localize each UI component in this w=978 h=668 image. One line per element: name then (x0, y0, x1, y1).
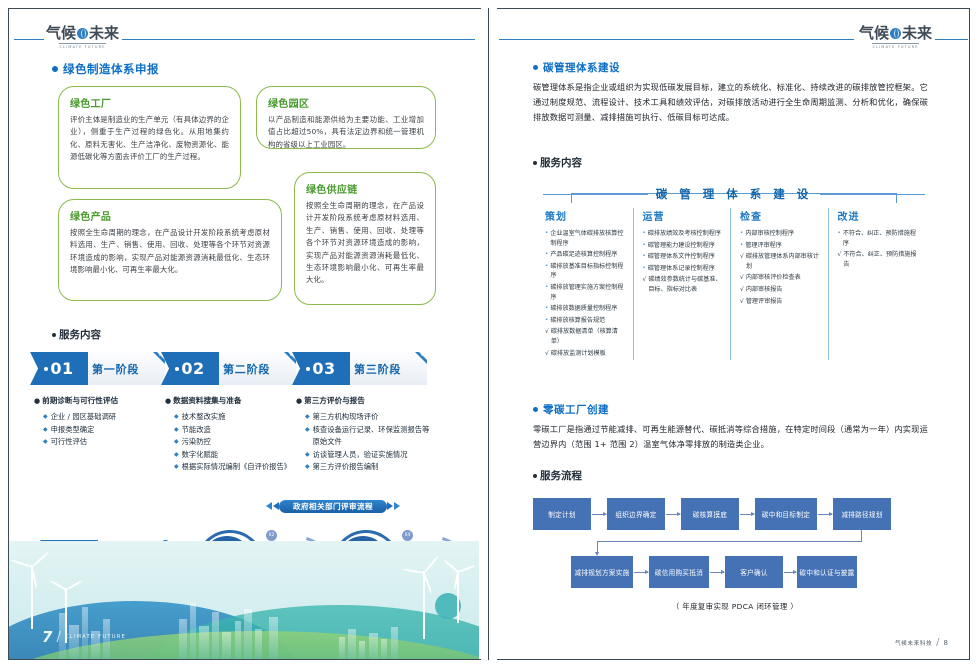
phase-items: ◆企业 / 园区基础调研 ◆申报类型确定 ◆可行性评估 (43, 411, 168, 449)
list-item: ◆可行性评估 (43, 436, 168, 449)
diamond-icon: ◆ (305, 424, 310, 437)
list-item: •碳排放管理实施方案控制程序 (545, 283, 626, 302)
lead-dot-icon: ● (296, 395, 302, 407)
footer-brand-text: CLIMATE FUTURE (65, 634, 126, 640)
list-item: ◆根据实际情况编制《自评价报告》 (174, 461, 299, 474)
phase-number: 03 (312, 359, 335, 378)
logo-text-right: 未来 (902, 25, 932, 42)
card-body: 按照全生命周期的理念，在产品设计开发阶段系统考虑原材料选用、生产、销售、使用、回… (306, 200, 424, 287)
right-page-footer: 气候未来科技 / 8 (895, 637, 948, 648)
list-item: •碳管理体系文件控制程序 (643, 252, 724, 262)
phase-lead-label: 前期诊断与可行性评估 (42, 395, 118, 407)
footer-slash: / (936, 637, 939, 648)
matrix-column-header: 检查 (740, 208, 821, 223)
wind-turbine-1-icon (17, 557, 47, 629)
list-item: √碳排放数据清单（核算清单） (545, 327, 626, 346)
logo-rule-right (935, 39, 968, 40)
flow-box-3[interactable]: 碳核算摸底 (681, 498, 739, 530)
list-item: ◆技术整改实施 (174, 411, 299, 424)
phase-number-tag: 01 (30, 352, 88, 385)
lead-dot-icon: ● (165, 395, 171, 407)
bullet-dot-icon (533, 161, 537, 165)
tag-dot-icon (175, 367, 179, 371)
phase-number-tag: 02 (161, 352, 219, 385)
matrix-items: •企业温室气体碳排放核算控制程序 •产品碳足迹核算控制程序 •碳排放基准目标指标… (545, 229, 626, 358)
flow-box-9[interactable]: 碳中和认证与披露 (797, 556, 857, 588)
flow-box-4[interactable]: 碳中和目标制定 (755, 498, 817, 530)
right-heading1-label: 碳管理体系建设 (543, 60, 620, 75)
logo-text-left: 气候 (46, 25, 76, 42)
carbon-management-matrix: 碳 管 理 体 系 建 设 策划 •企业温室气体碳排放核算控制程序 •产品碳足迹… (543, 186, 925, 341)
bullet-dot-icon (533, 65, 538, 70)
list-item: •内部审核控制程序 (740, 229, 821, 239)
list-item: √内部审核报告 (740, 285, 821, 295)
diamond-icon: ◆ (43, 436, 48, 449)
phase-ribbon-2[interactable]: 02 第二阶段 02 (161, 352, 296, 385)
bullet-dot-icon (52, 333, 56, 337)
phase-number: 01 (50, 359, 73, 378)
phase-lead: ● 第三方评价与报告 (296, 395, 430, 407)
document-spread: 气候 未来 CLIMATE FUTURE 绿色制造体系申报 绿色工厂 评价主体是… (0, 0, 978, 668)
gov-review-banner: 政府相关部门评审流程 (238, 499, 428, 513)
matrix-rule-left (543, 194, 648, 195)
ribbon-corner-icon (415, 352, 427, 364)
diamond-icon: ◆ (305, 449, 310, 462)
list-item: •不符合、纠正、预防措施程序 (838, 229, 919, 248)
matrix-column-header: 改进 (838, 208, 919, 223)
right-logo-row: 气候 未来 CLIMATE FUTURE (489, 25, 978, 53)
flow-connector-down (597, 541, 598, 553)
brand-logo: 气候 未来 CLIMATE FUTURE (859, 25, 932, 49)
city-skyline (39, 589, 469, 659)
list-item: √管理评审报告 (740, 297, 821, 307)
left-logo-row: 气候 未来 CLIMATE FUTURE (0, 25, 489, 53)
logo-rule-left (14, 39, 44, 40)
arrow-left-icon (266, 502, 279, 510)
card-title: 绿色工厂 (70, 95, 229, 110)
matrix-column-header: 运营 (643, 208, 724, 223)
phase-title: 第三阶段 (354, 352, 401, 385)
list-item: •碳管理能力建设控制程序 (643, 241, 724, 251)
list-item: ◆核查设备运行记录、环保监测报告等原始文件 (305, 424, 430, 449)
page-number: 7 (42, 628, 52, 646)
phase-list-1: ● 前期诊断与可行性评估 ◆企业 / 园区基础调研 ◆申报类型确定 ◆可行性评估 (34, 395, 168, 449)
matrix-columns: 策划 •企业温室气体碳排放核算控制程序 •产品碳足迹核算控制程序 •碳排放基准目… (543, 208, 925, 360)
diamond-icon: ◆ (174, 449, 179, 462)
matrix-items: •不符合、纠正、预防措施程序 √不符合、纠正、预防措施报告 (838, 229, 919, 269)
tag-dot-icon (44, 367, 48, 371)
arrow-right-icon (387, 502, 400, 510)
phase-lead-label: 第三方评价与报告 (304, 395, 365, 407)
flow-box-7[interactable]: 碳信用购买抵消 (649, 556, 709, 588)
flow-box-5[interactable]: 减排路径规划 (833, 498, 891, 530)
lead-dot-icon: ● (34, 395, 40, 407)
logo-subtitle: CLIMATE FUTURE (59, 43, 105, 49)
list-item: •管理评审程序 (740, 241, 821, 251)
flow-caption: （ 年度复审实现 PDCA 闭环管理 ） (533, 601, 937, 612)
diamond-icon: ◆ (43, 424, 48, 437)
list-item: ◆访谈管理人员，验证实施情况 (305, 449, 430, 462)
list-item: •碳排放核算报告规范 (545, 316, 626, 326)
diamond-icon: ◆ (43, 411, 48, 424)
matrix-rule-right (820, 194, 925, 195)
globe-icon (77, 28, 88, 39)
phase-number: 02 (181, 359, 204, 378)
bullet-dot-icon (533, 474, 537, 478)
list-item: •碳排放数据质量控制程序 (545, 304, 626, 314)
phase-title: 第二阶段 (223, 352, 270, 385)
list-item: •企业温室气体碳排放核算控制程序 (545, 229, 626, 248)
list-item: ◆数字化赋能 (174, 449, 299, 462)
flow-arrow-4-icon (818, 514, 832, 515)
matrix-items: •碳排放绩效及考核控制程序 •碳管理能力建设控制程序 •碳管理体系文件控制程序 … (643, 229, 724, 295)
logo-text-left: 气候 (859, 25, 889, 42)
flow-arrow-3-icon (740, 514, 754, 515)
phase-column-2: 02 第二阶段 02 ● 数据资料搜集与准备 ◆技术整改实施 ◆节能改造 ◆污染… (161, 352, 299, 474)
flow-arrow-1-icon (592, 514, 606, 515)
footer-brand-text: 气候未来科技 (895, 639, 932, 647)
card-green-park: 绿色园区 以产品制造和能源供给为主要功能、工业增加值占比超过50%，具有法定边界… (256, 86, 436, 149)
phase-number-tag: 03 (292, 352, 350, 385)
bullet-dot-icon (52, 66, 58, 72)
flow-box-2[interactable]: 组织边界确定 (607, 498, 665, 530)
list-item: ◆污染防控 (174, 436, 299, 449)
list-item: ◆企业 / 园区基础调研 (43, 411, 168, 424)
phase-column-3: 03 第三阶段 03 ● 第三方评价与报告 ◆第三方机构现场评价 ◆核查设备运行… (292, 352, 430, 474)
phase-title: 第一阶段 (92, 352, 139, 385)
right-paragraph-1: 碳管理体系是指企业或组织为实现低碳发展目标，建立的系统化、标准化、持续改进的碳排… (533, 80, 928, 125)
matrix-items: •内部审核控制程序 •管理评审程序 √碳排放管理体系内部审核计划 √内部审核评价… (740, 229, 821, 306)
globe-icon (890, 28, 901, 39)
matrix-column-check: 检查 •内部审核控制程序 •管理评审程序 √碳排放管理体系内部审核计划 √内部审… (730, 208, 828, 360)
list-item: •碳排放绩效及考核控制程序 (643, 229, 724, 239)
card-body: 按照全生命周期的理念，在产品设计开发阶段系统考虑原材料选用、生产、销售、使用、回… (70, 227, 270, 277)
page-number: 8 (944, 639, 948, 647)
right-service-heading-2: 服务流程 (533, 468, 582, 483)
right-page: 气候 未来 CLIMATE FUTURE 碳管理体系建设 碳管理体系是指企业或组… (489, 0, 978, 668)
gov-banner-label: 政府相关部门评审流程 (279, 500, 387, 513)
right-heading2-label: 零碳工厂创建 (543, 402, 609, 417)
right-service-heading-1: 服务内容 (533, 155, 582, 170)
flow-connector-horizontal (597, 541, 862, 542)
card-green-product: 绿色产品 按照全生命周期的理念，在产品设计开发阶段系统考虑原材料选用、生产、销售… (58, 199, 282, 301)
phase-lead: ● 前期诊断与可行性评估 (34, 395, 168, 407)
logo-subtitle: CLIMATE FUTURE (872, 43, 918, 49)
right-heading-carbon-mgmt: 碳管理体系建设 (533, 60, 620, 75)
phase-corner-number: 03 (421, 353, 426, 357)
right-service-label-1: 服务内容 (540, 155, 582, 170)
list-item: ◆申报类型确定 (43, 424, 168, 437)
list-item: √不符合、纠正、预防措施报告 (838, 250, 919, 269)
flow-arrow-6-icon (710, 572, 724, 573)
phase-items: ◆技术整改实施 ◆节能改造 ◆污染防控 ◆数字化赋能 ◆根据实际情况编制《自评价… (174, 411, 299, 474)
list-item: ◆第三方评价报告编制 (305, 461, 430, 474)
left-page-heading: 绿色制造体系申报 (52, 61, 159, 77)
left-heading-label: 绿色制造体系申报 (63, 61, 159, 77)
matrix-title: 碳 管 理 体 系 建 设 (648, 186, 821, 202)
flow-box-8[interactable]: 客户确认 (725, 556, 783, 588)
card-green-factory: 绿色工厂 评价主体是制造业的生产单元（有具体边界的企业），侧重于生产过程的绿色化… (58, 86, 241, 189)
phase-items: ◆第三方机构现场评价 ◆核查设备运行记录、环保监测报告等原始文件 ◆访谈管理人员… (305, 411, 430, 474)
card-title: 绿色供应链 (306, 181, 424, 196)
card-title: 绿色产品 (70, 208, 270, 223)
wind-turbine-4-icon (445, 563, 471, 623)
flow-arrow-5-icon (634, 572, 648, 573)
list-item: √内部审核评价检查表 (740, 273, 821, 283)
flow-arrow-7-icon (784, 572, 796, 573)
card-body: 以产品制造和能源供给为主要功能、工业增加值占比超过50%，具有法定边界和统一管理… (268, 114, 424, 151)
phase-lead: ● 数据资料搜集与准备 (165, 395, 299, 407)
logo-rule-right (122, 39, 475, 40)
left-service-label: 服务内容 (59, 327, 101, 342)
wind-turbine-3-icon (409, 563, 439, 639)
diamond-icon: ◆ (174, 411, 179, 424)
list-item: ◆节能改造 (174, 424, 299, 437)
list-item: ◆第三方机构现场评价 (305, 411, 430, 424)
phase-ribbon-3[interactable]: 03 第三阶段 03 (292, 352, 427, 385)
list-item: √碳排放管理体系内部审核计划 (740, 252, 821, 271)
phase-list-3: ● 第三方评价与报告 ◆第三方机构现场评价 ◆核查设备运行记录、环保监测报告等原… (296, 395, 430, 474)
matrix-column-operate: 运营 •碳排放绩效及考核控制程序 •碳管理能力建设控制程序 •碳管理体系文件控制… (633, 208, 731, 360)
flow-box-1[interactable]: 制定计划 (533, 498, 591, 530)
matrix-title-row: 碳 管 理 体 系 建 设 (543, 186, 925, 202)
left-page-footer: 7 / CLIMATE FUTURE (42, 628, 126, 646)
right-flow-heading-label: 服务流程 (540, 468, 582, 483)
phase-list-2: ● 数据资料搜集与准备 ◆技术整改实施 ◆节能改造 ◆污染防控 ◆数字化赋能 ◆… (165, 395, 299, 474)
left-page: 气候 未来 CLIMATE FUTURE 绿色制造体系申报 绿色工厂 评价主体是… (0, 0, 489, 668)
card-body: 评价主体是制造业的生产单元（有具体边界的企业），侧重于生产过程的绿色化。从用地集… (70, 114, 229, 164)
matrix-column-improve: 改进 •不符合、纠正、预防措施程序 √不符合、纠正、预防措施报告 (828, 208, 926, 360)
review-badge-2: 02 (266, 530, 277, 541)
phase-ribbon-1[interactable]: 01 第一阶段 01 (30, 352, 165, 385)
service-flow-diagram: 制定计划 组织边界确定 碳核算摸底 碳中和目标制定 减排路径规划 减排规划方案实… (533, 498, 937, 618)
tag-dot-icon (306, 367, 310, 371)
flow-arrow-2-icon (666, 514, 680, 515)
brand-logo: 气候 未来 CLIMATE FUTURE (46, 25, 119, 49)
list-item: √碳绩效参数统计与碳基准、目标、指标对比表 (643, 275, 724, 294)
phase-lead-label: 数据资料搜集与准备 (173, 395, 241, 407)
diamond-icon: ◆ (174, 424, 179, 437)
list-item: √碳排放监测计划模板 (545, 349, 626, 359)
diamond-icon: ◆ (174, 436, 179, 449)
logo-rule-left (499, 39, 854, 40)
bullet-dot-icon (533, 407, 538, 412)
phase-column-1: 01 第一阶段 01 ● 前期诊断与可行性评估 ◆企业 / 园区基础调研 ◆申报… (30, 352, 168, 449)
matrix-column-plan: 策划 •企业温室气体碳排放核算控制程序 •产品碳足迹核算控制程序 •碳排放基准目… (543, 208, 633, 360)
logo-text-right: 未来 (89, 25, 119, 42)
right-paragraph-2: 零碳工厂是指通过节能减排、可再生能源替代、碳抵消等综合措施，在特定时间段（通常为… (533, 422, 928, 452)
left-service-heading: 服务内容 (52, 327, 101, 342)
matrix-column-header: 策划 (545, 208, 626, 223)
card-title: 绿色园区 (268, 95, 424, 110)
list-item: •碳管理体系记录控制程序 (643, 264, 724, 274)
list-item: •碳排放基准目标指标控制程序 (545, 262, 626, 281)
right-heading-zero-carbon: 零碳工厂创建 (533, 402, 609, 417)
review-badge-4: 04 (402, 530, 413, 541)
footer-slash: / (56, 630, 60, 645)
diamond-icon: ◆ (305, 461, 310, 474)
diamond-icon: ◆ (305, 411, 310, 424)
diamond-icon: ◆ (174, 461, 179, 474)
card-green-supply-chain: 绿色供应链 按照全生命周期的理念，在产品设计开发阶段系统考虑原材料选用、生产、销… (294, 172, 436, 305)
flow-box-6[interactable]: 减排规划方案实施 (571, 556, 633, 588)
list-item: •产品碳足迹核算控制程序 (545, 250, 626, 260)
